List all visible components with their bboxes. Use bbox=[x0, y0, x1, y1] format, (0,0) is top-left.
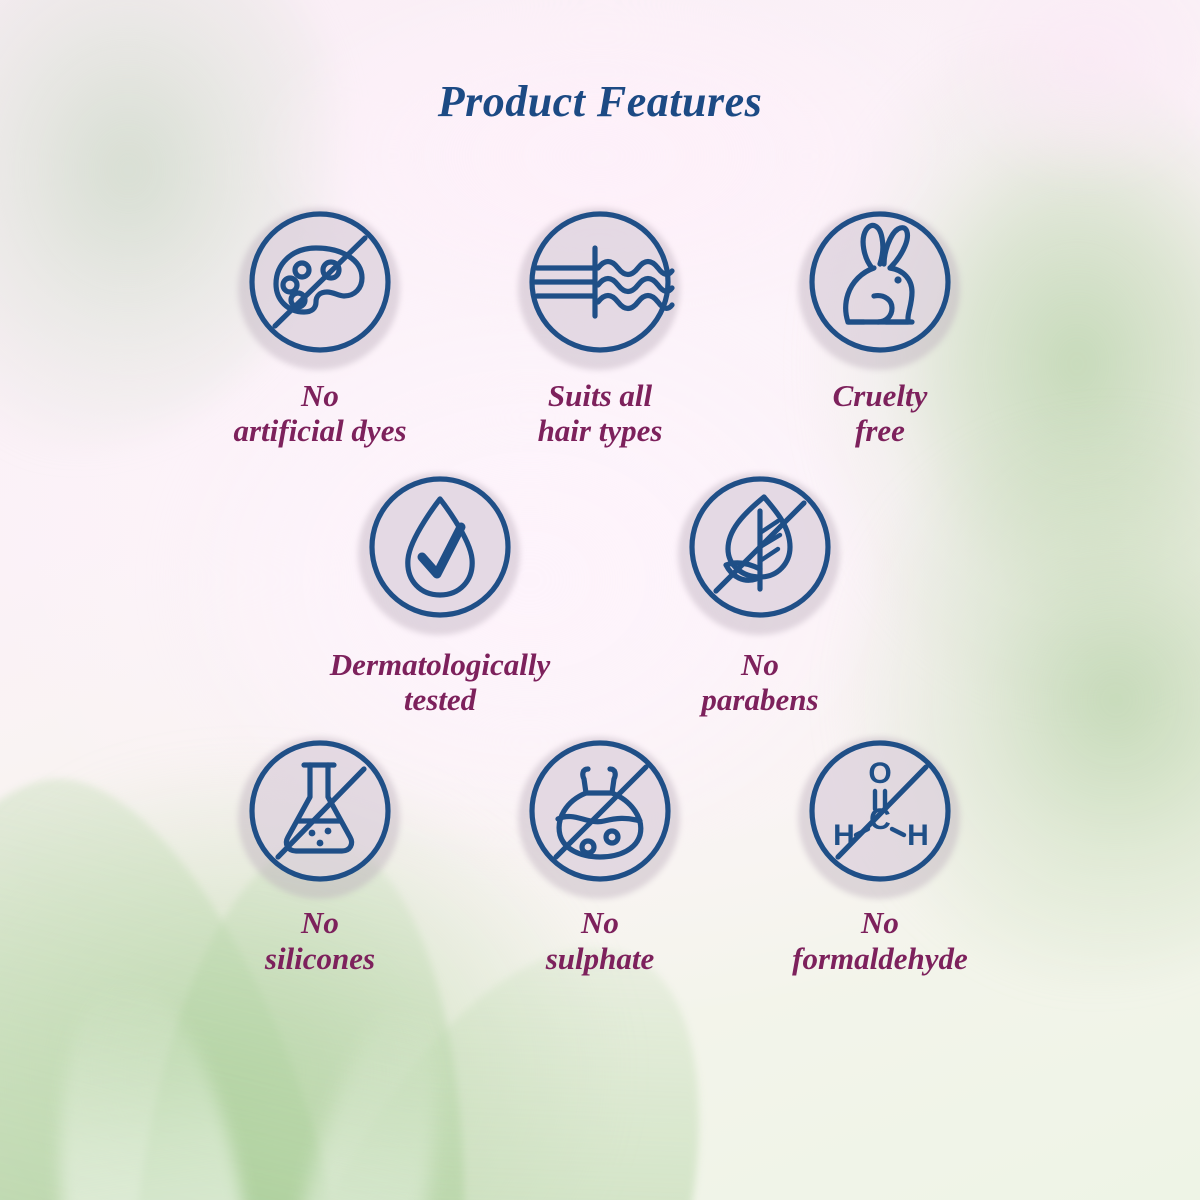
feature-no-parabens[interactable]: No parabens bbox=[600, 461, 920, 718]
round-flask-crossed-out-icon bbox=[514, 725, 686, 897]
straight-and-wavy-hair-icon bbox=[514, 196, 686, 368]
badge-dermatologically-tested bbox=[354, 461, 526, 633]
decorative-leaf-highlight bbox=[253, 993, 466, 1200]
badge-no-parabens bbox=[674, 461, 846, 633]
decorative-leaf-highlight bbox=[32, 970, 269, 1200]
feature-no-sulphate[interactable]: No sulphate bbox=[460, 725, 740, 976]
badge-no-sulphate bbox=[514, 725, 686, 897]
badge-cruelty-free bbox=[794, 196, 966, 368]
features-grid: No artificial dyes bbox=[0, 196, 1200, 976]
page-title: Product Features bbox=[0, 76, 1200, 127]
badge-no-artificial-dyes bbox=[234, 196, 406, 368]
feature-label: No formaldehyde bbox=[792, 905, 968, 976]
atom-oxygen-label: O bbox=[868, 757, 891, 790]
water-droplet-check-icon bbox=[354, 461, 526, 633]
features-row-3: No silicones bbox=[0, 725, 1200, 976]
feature-no-formaldehyde[interactable]: O C H H No formaldehyde bbox=[740, 725, 1020, 976]
feature-suits-all-hair-types[interactable]: Suits all hair types bbox=[460, 196, 740, 449]
feature-label: No artificial dyes bbox=[233, 378, 406, 449]
feature-cruelty-free[interactable]: Cruelty free bbox=[740, 196, 1020, 449]
features-row-1: No artificial dyes bbox=[0, 196, 1200, 449]
badge-no-silicones bbox=[234, 725, 406, 897]
conical-flask-crossed-out-icon bbox=[234, 725, 406, 897]
feature-no-artificial-dyes[interactable]: No artificial dyes bbox=[180, 196, 460, 449]
atom-hydrogen-right-label: H bbox=[907, 819, 929, 852]
feature-label: Suits all hair types bbox=[538, 378, 663, 449]
feature-label: Cruelty free bbox=[833, 378, 928, 449]
features-row-2: Dermatologically tested bbox=[0, 461, 1200, 718]
leaf-crossed-out-icon bbox=[674, 461, 846, 633]
atom-hydrogen-left-label: H bbox=[833, 819, 855, 852]
feature-no-silicones[interactable]: No silicones bbox=[180, 725, 460, 976]
feature-label: Dermatologically tested bbox=[330, 647, 550, 718]
badge-no-formaldehyde: O C H H bbox=[794, 725, 966, 897]
feature-label: No parabens bbox=[701, 647, 818, 718]
badge-suits-all-hair-types bbox=[514, 196, 686, 368]
paint-palette-crossed-out-icon bbox=[234, 196, 406, 368]
rabbit-icon bbox=[794, 196, 966, 368]
feature-dermatologically-tested[interactable]: Dermatologically tested bbox=[280, 461, 600, 718]
feature-label: No sulphate bbox=[546, 905, 655, 976]
product-features-poster: Product Features bbox=[0, 0, 1200, 1200]
feature-label: No silicones bbox=[265, 905, 375, 976]
formaldehyde-molecule-crossed-out-icon: O C H H bbox=[794, 725, 966, 897]
